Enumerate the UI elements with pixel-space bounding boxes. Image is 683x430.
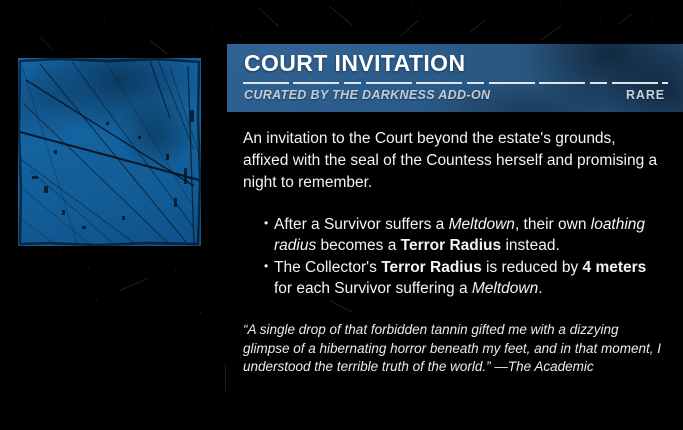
effect-list: After a Survivor suffers a Meltdown, the… <box>243 214 663 299</box>
portrait-scratches <box>18 58 201 246</box>
portrait-image <box>18 58 201 246</box>
effect-terror-radius-reduction: The Collector's Terror Radius is reduced… <box>265 257 663 299</box>
portrait-thumbnail[interactable] <box>18 58 201 246</box>
effect-meltdown-loathing: After a Survivor suffers a Meltdown, the… <box>265 214 663 256</box>
card-body: An invitation to the Court beyond the es… <box>243 128 663 377</box>
card-title: COURT INVITATION <box>244 50 465 77</box>
flavor-text: “A single drop of that forbidden tannin … <box>243 321 663 377</box>
card-subtitle: CURATED BY THE DARKNESS ADD-ON <box>244 88 490 102</box>
banner-divider <box>243 82 668 84</box>
item-card: COURT INVITATION CURATED BY THE DARKNESS… <box>0 0 683 430</box>
card-header-banner: COURT INVITATION CURATED BY THE DARKNESS… <box>227 44 683 112</box>
rarity-label: RARE <box>626 88 665 102</box>
card-description: An invitation to the Court beyond the es… <box>243 128 663 194</box>
